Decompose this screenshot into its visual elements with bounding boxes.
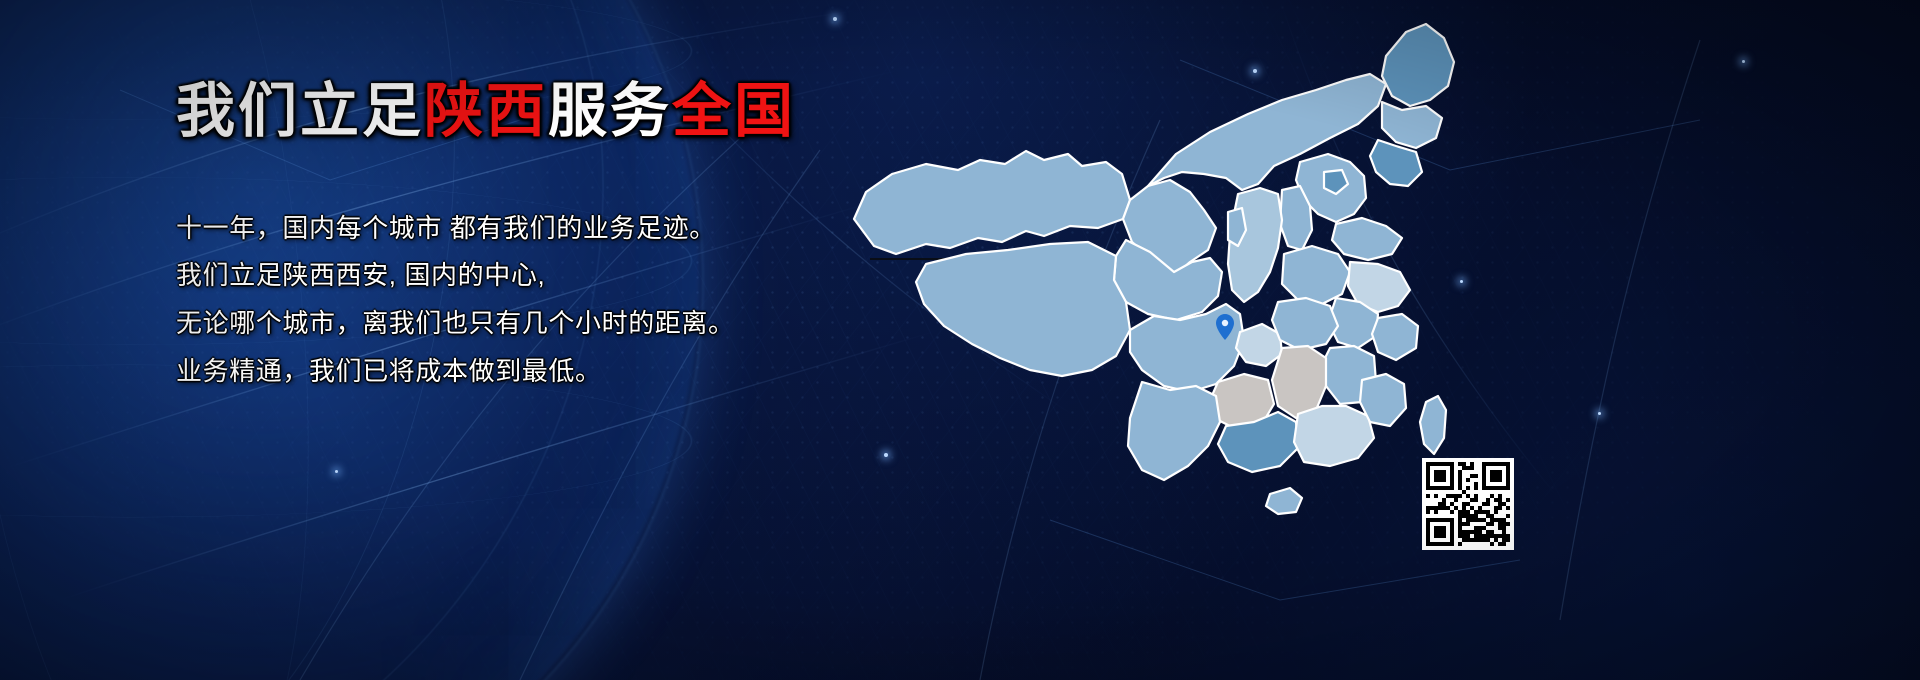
qr-code[interactable] — [1422, 458, 1514, 550]
map-region-taiwan — [1420, 396, 1446, 454]
map-region-yunnan — [1128, 382, 1220, 480]
body-line-3: 无论哪个城市，离我们也只有几个小时的距离。 — [176, 300, 896, 348]
page-title: 我们立足陕西服务全国 — [176, 80, 896, 143]
headline-part-1: 我们立足 — [176, 78, 424, 144]
map-region-henan — [1282, 246, 1350, 304]
map-region-hainan — [1266, 488, 1302, 514]
map-region-fujian — [1360, 374, 1406, 426]
headline-highlight-2: 全国 — [672, 78, 796, 144]
spark-5 — [1742, 60, 1745, 63]
map-region-zhejiang — [1372, 314, 1418, 360]
body-line-4: 业务精通，我们已将成本做到最低。 — [176, 348, 896, 396]
map-region-tibet — [916, 242, 1130, 376]
map-region-shandong — [1332, 218, 1402, 260]
headline-part-2: 服务 — [548, 78, 672, 144]
spark-8 — [1598, 412, 1601, 415]
map-region-xinjiang — [854, 151, 1130, 254]
location-pin-icon — [1216, 314, 1234, 340]
copy-block: 我们立足陕西服务全国 十一年，国内每个城市 都有我们的业务足迹。 我们立足陕西西… — [176, 80, 896, 396]
map-region-heilongjiang — [1382, 24, 1454, 106]
spark-7 — [335, 470, 338, 473]
body-text: 十一年，国内每个城市 都有我们的业务足迹。 我们立足陕西西安, 国内的中心, 无… — [176, 205, 896, 396]
promo-banner: 我们立足陕西服务全国 十一年，国内每个城市 都有我们的业务足迹。 我们立足陕西西… — [0, 0, 1920, 680]
body-line-2: 我们立足陕西西安, 国内的中心, — [176, 252, 896, 300]
map-region-guangdong — [1294, 406, 1374, 466]
headline-highlight-1: 陕西 — [424, 78, 548, 144]
map-region-jilin — [1382, 102, 1442, 148]
qr-code-modules — [1426, 462, 1510, 546]
body-line-1: 十一年，国内每个城市 都有我们的业务足迹。 — [176, 205, 896, 253]
